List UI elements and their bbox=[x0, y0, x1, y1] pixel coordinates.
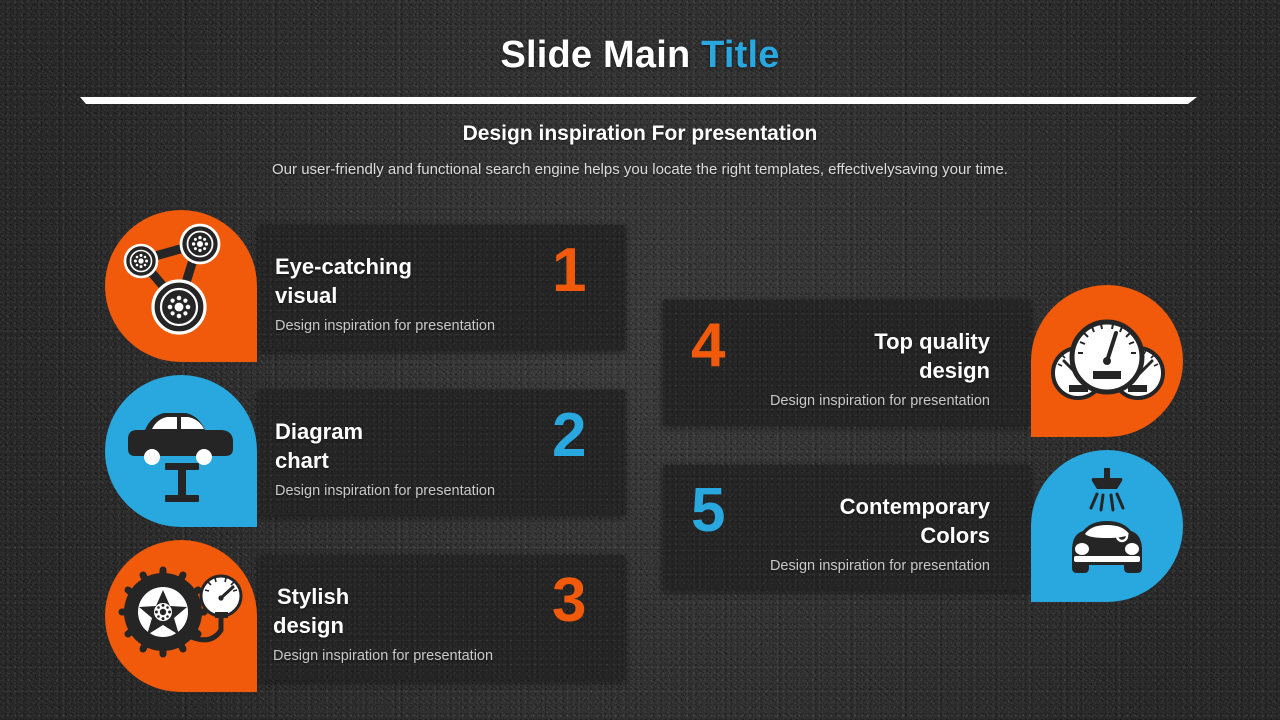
item-description: Design inspiration for presentation bbox=[275, 483, 495, 499]
page-title: Slide Main Title bbox=[0, 34, 1280, 77]
item-heading: Diagram chart bbox=[275, 417, 363, 475]
list-item[interactable]: Contemporary Colors Design inspiration f… bbox=[663, 450, 1183, 595]
item-number: 4 bbox=[691, 315, 725, 377]
list-item[interactable]: Diagram chart Design inspiration for pre… bbox=[105, 375, 625, 520]
item-number: 3 bbox=[552, 570, 586, 632]
item-number: 5 bbox=[691, 480, 725, 542]
list-item[interactable]: Eye-catching visual Design inspiration f… bbox=[105, 210, 625, 355]
item-icon-blob bbox=[1031, 285, 1183, 437]
title-divider bbox=[80, 97, 1197, 104]
page-title-accent: Title bbox=[701, 34, 779, 76]
item-icon-blob bbox=[105, 210, 257, 362]
item-description: Design inspiration for presentation bbox=[275, 318, 495, 334]
item-heading: Eye-catching visual bbox=[275, 252, 412, 310]
serpentine-belt-pulley-icon bbox=[105, 210, 257, 362]
item-number: 2 bbox=[552, 405, 586, 467]
item-icon-blob bbox=[1031, 450, 1183, 602]
slide-subtitle: Design inspiration For presentation bbox=[0, 122, 1280, 146]
item-description: Design inspiration for presentation bbox=[770, 558, 990, 574]
item-description: Design inspiration for presentation bbox=[770, 393, 990, 409]
slide-description: Our user-friendly and functional search … bbox=[0, 161, 1280, 178]
item-icon-blob bbox=[105, 375, 257, 527]
page-title-main: Slide Main bbox=[500, 34, 701, 76]
item-icon-blob bbox=[105, 540, 257, 692]
item-number: 1 bbox=[552, 240, 586, 302]
slide-canvas: Slide Main Title Design inspiration For … bbox=[0, 0, 1280, 720]
item-heading: Contemporary Colors bbox=[840, 492, 990, 550]
list-item[interactable]: Top quality design Design inspiration fo… bbox=[663, 285, 1183, 430]
tire-pressure-gauge-icon bbox=[105, 540, 257, 692]
item-heading: Top quality design bbox=[874, 327, 990, 385]
item-heading: Stylish design bbox=[273, 582, 349, 640]
car-wash-icon bbox=[1031, 450, 1183, 602]
car-on-lift-icon bbox=[105, 375, 257, 527]
speedometer-gauges-icon bbox=[1031, 285, 1183, 437]
item-description: Design inspiration for presentation bbox=[273, 648, 493, 664]
list-item[interactable]: Stylish design Design inspiration for pr… bbox=[105, 540, 625, 685]
